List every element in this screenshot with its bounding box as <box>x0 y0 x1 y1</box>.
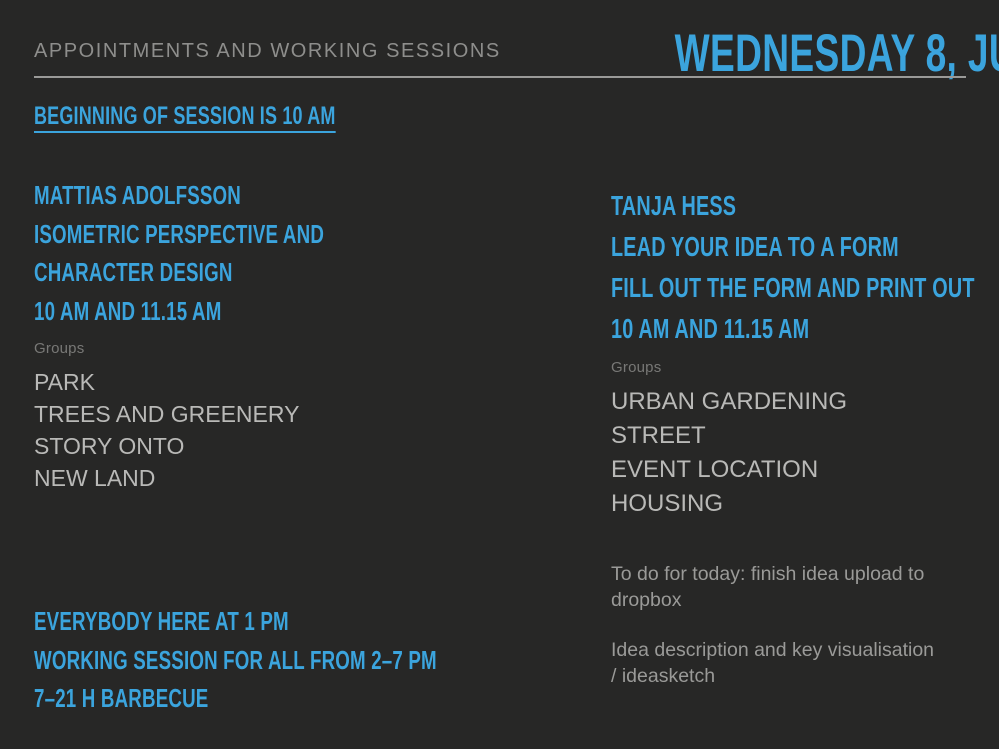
session-start-label: BEGINNING OF SESSION IS 10 AM <box>34 102 336 133</box>
list-item: EVENT LOCATION <box>611 453 966 487</box>
session-topic-line: CHARACTER DESIGN <box>34 253 574 292</box>
group-schedule-block: EVERYBODY HERE AT 1 PM WORKING SESSION F… <box>34 602 574 718</box>
group-schedule-line: WORKING SESSION FOR ALL FROM 2–7 PM <box>34 641 574 680</box>
note-deliverable: Idea description and key visualisation /… <box>611 637 941 689</box>
list-item: HOUSING <box>611 487 966 521</box>
groups-label: Groups <box>34 340 574 357</box>
note-todo: To do for today: finish idea upload to d… <box>611 561 941 613</box>
notes-section: To do for today: finish idea upload to d… <box>611 561 966 689</box>
group-schedule-line: EVERYBODY HERE AT 1 PM <box>34 602 574 641</box>
schedule-board: APPOINTMENTS AND WORKING SESSIONS WEDNES… <box>0 0 999 749</box>
group-schedule-line: 7–21 H BARBECUE <box>34 679 574 718</box>
list-item: NEW LAND <box>34 462 574 494</box>
list-item: TREES AND GREENERY <box>34 398 574 430</box>
session-topic-line: LEAD YOUR IDEA TO A FORM <box>611 226 966 267</box>
groups-list: PARK TREES AND GREENERY STORY ONTO NEW L… <box>34 366 574 494</box>
session-column-right: TANJA HESS LEAD YOUR IDEA TO A FORM FILL… <box>611 185 966 689</box>
groups-label: Groups <box>611 359 966 376</box>
list-item: STORY ONTO <box>34 430 574 462</box>
board-header: APPOINTMENTS AND WORKING SESSIONS WEDNES… <box>34 34 966 76</box>
presenter-name: TANJA HESS <box>611 185 966 226</box>
header-divider <box>34 76 966 78</box>
list-item: PARK <box>34 366 574 398</box>
session-start-link[interactable]: BEGINNING OF SESSION IS 10 AM <box>34 102 453 133</box>
presenter-name: MATTIAS ADOLFSSON <box>34 176 574 215</box>
session-times: 10 AM AND 11.15 AM <box>34 292 574 331</box>
date-heading: WEDNESDAY 8, JUNE <box>675 28 999 80</box>
session-column-left: MATTIAS ADOLFSSON ISOMETRIC PERSPECTIVE … <box>34 176 574 494</box>
session-topic-line: FILL OUT THE FORM AND PRINT OUT <box>611 267 966 308</box>
session-topic-line: ISOMETRIC PERSPECTIVE AND <box>34 215 574 254</box>
list-item: URBAN GARDENING <box>611 385 966 419</box>
session-times: 10 AM AND 11.15 AM <box>611 308 966 349</box>
page-title: APPOINTMENTS AND WORKING SESSIONS <box>34 40 501 63</box>
groups-list: URBAN GARDENING STREET EVENT LOCATION HO… <box>611 385 966 521</box>
list-item: STREET <box>611 419 966 453</box>
date-heading-wrap: WEDNESDAY 8, JUNE <box>506 28 966 80</box>
